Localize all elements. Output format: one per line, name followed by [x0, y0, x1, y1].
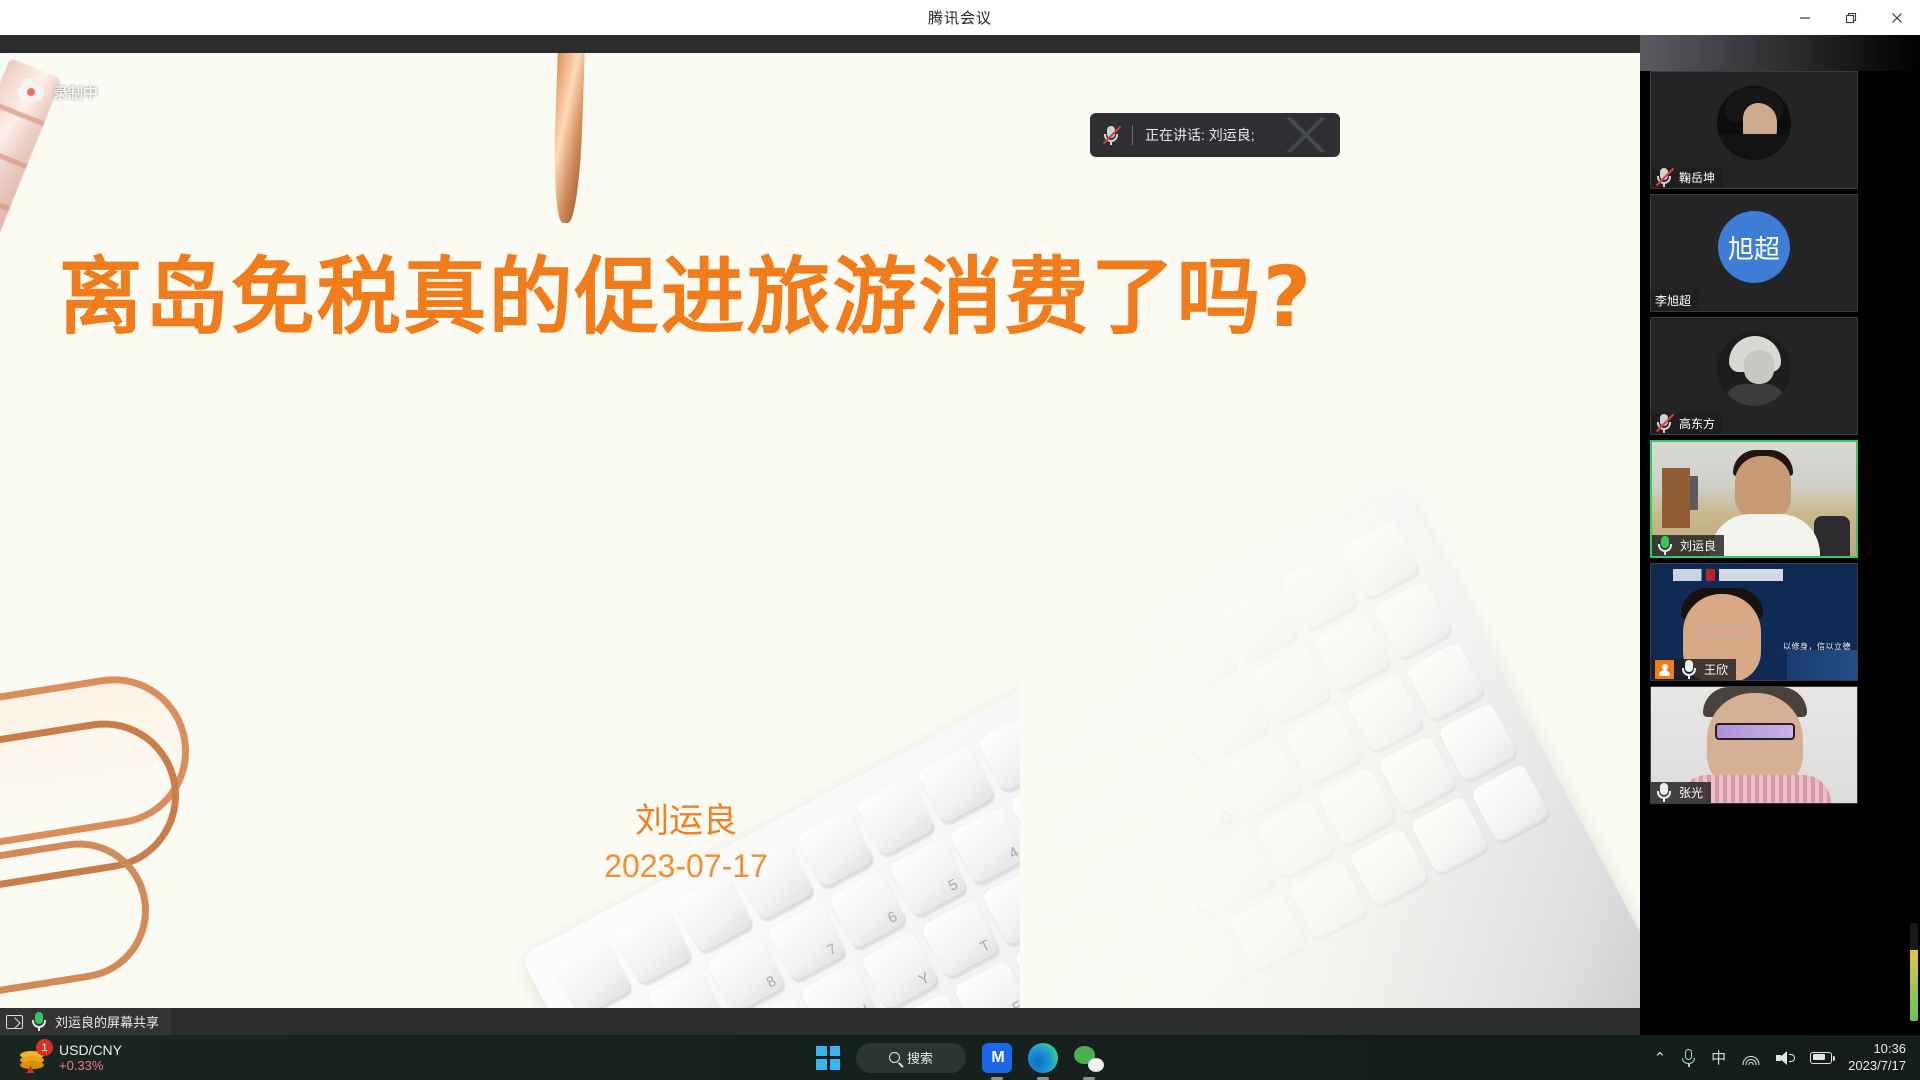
share-status-label-group: 刘运良的屏幕共享: [0, 1008, 171, 1035]
meeting-window: 0987654321POIUYTREWQLKJHGFDSAMNBVCXZ 离岛免…: [0, 35, 1920, 1035]
participant-tile-3[interactable]: 刘运良: [1650, 440, 1858, 558]
taskbar-tray: ⌃ 中 10:36 2023/7/17: [1654, 1035, 1906, 1080]
participant-tile-4[interactable]: 以修身，信以立德 王欣: [1650, 563, 1858, 681]
running-indicator: [1083, 1077, 1095, 1080]
participant-name: 李旭超: [1655, 292, 1691, 309]
widget-badge: 1: [36, 1039, 53, 1056]
wifi-icon[interactable]: [1742, 1051, 1760, 1065]
mic-on-icon: [30, 1011, 48, 1032]
taskbar-app-edge[interactable]: [1028, 1043, 1058, 1073]
clock-time: 10:36: [1873, 1041, 1906, 1057]
participant-namebar-2: 高东方: [1651, 413, 1723, 434]
windows-taskbar: 1 ▲ USD/CNY +0.33% 搜索 M ⌃: [0, 1035, 1920, 1080]
volume-icon[interactable]: [1776, 1051, 1794, 1065]
coins-icon: 1 ▲: [18, 1043, 50, 1073]
running-indicator: [1037, 1077, 1049, 1080]
speaking-banner: 正在讲话: 刘运良;: [1090, 113, 1340, 157]
window-controls: [1782, 0, 1920, 35]
participant-tile-5[interactable]: 张光: [1650, 686, 1858, 804]
participant-tile-1[interactable]: 旭超 李旭超: [1650, 194, 1858, 312]
taskbar-center-group: 搜索 M: [816, 1035, 1104, 1080]
slide-date: 2023-07-17: [0, 848, 1372, 885]
mic-muted-icon: [1102, 125, 1120, 146]
up-arrow-icon: ▲: [24, 1061, 37, 1076]
participant-tile-0[interactable]: 鞠岳坤: [1650, 71, 1858, 189]
search-label: 搜索: [907, 1048, 933, 1067]
tencent-meeting-logo: [1278, 118, 1334, 152]
cloud-record-icon: [18, 84, 44, 101]
participant-namebar-4: 王欣: [1651, 659, 1736, 680]
mic-on-icon: [1655, 782, 1673, 803]
shared-screen-area[interactable]: 0987654321POIUYTREWQLKJHGFDSAMNBVCXZ 离岛免…: [0, 35, 1640, 1035]
window-titlebar: 腾讯会议: [0, 0, 1920, 35]
participant-name: 鞠岳坤: [1679, 169, 1715, 186]
mic-on-icon: [1680, 659, 1698, 680]
restore-button[interactable]: [1828, 0, 1874, 35]
running-indicator: [991, 1077, 1003, 1080]
taskbar-app-wechat[interactable]: [1074, 1043, 1104, 1073]
chevron-up-icon[interactable]: ⌃: [1654, 1049, 1667, 1067]
screen-share-icon: [6, 1015, 23, 1029]
taskbar-app-tencent-meeting[interactable]: M: [982, 1043, 1012, 1073]
currency-change-label: +0.33%: [59, 1059, 122, 1074]
taskbar-finance-widget[interactable]: 1 ▲ USD/CNY +0.33%: [18, 1039, 122, 1077]
avatar: 旭超: [1718, 211, 1790, 283]
tencent-meeting-icon: M: [991, 1049, 1002, 1067]
recording-label: 录制中: [53, 82, 98, 103]
participant-namebar-1: 李旭超: [1651, 290, 1699, 311]
mic-muted-icon: [1655, 167, 1673, 188]
participant-tile-2[interactable]: 高东方: [1650, 317, 1858, 435]
keyboard-photo: 0987654321POIUYTREWQLKJHGFDSAMNBVCXZ: [520, 487, 1640, 1008]
slide-title: 离岛免税真的促进旅游消费了吗?: [0, 248, 1372, 347]
mic-muted-icon: [1655, 413, 1673, 434]
participant-namebar-5: 张光: [1651, 782, 1711, 803]
taskbar-search-box[interactable]: 搜索: [856, 1043, 966, 1073]
battery-icon[interactable]: [1810, 1052, 1832, 1064]
slide-author: 刘运良: [0, 793, 1372, 842]
clock-date: 2023/7/17: [1848, 1058, 1906, 1074]
currency-pair-label: USD/CNY: [59, 1042, 122, 1058]
presentation-slide: 0987654321POIUYTREWQLKJHGFDSAMNBVCXZ 离岛免…: [0, 53, 1640, 1008]
participant-name: 高东方: [1679, 415, 1715, 432]
participant-name: 张光: [1679, 784, 1703, 801]
search-icon: [889, 1052, 900, 1063]
taskbar-clock[interactable]: 10:36 2023/7/17: [1848, 1041, 1906, 1074]
participant-namebar-0: 鞠岳坤: [1651, 167, 1723, 188]
ime-indicator[interactable]: 中: [1711, 1047, 1726, 1068]
banner-divider: [1132, 125, 1133, 145]
app-title: 腾讯会议: [928, 7, 992, 28]
mic-on-icon: [1656, 535, 1674, 556]
microphone-icon[interactable]: [1682, 1049, 1695, 1067]
participant-sidebar[interactable]: 鞠岳坤 旭超 李旭超 高东方: [1640, 35, 1920, 1035]
minimize-button[interactable]: [1782, 0, 1828, 35]
share-status-label: 刘运良的屏幕共享: [55, 1012, 159, 1031]
participant-name: 刘运良: [1680, 537, 1716, 554]
share-status-strip: 刘运良的屏幕共享: [0, 1008, 1640, 1035]
speaking-label: 正在讲话: 刘运良;: [1145, 125, 1255, 145]
avatar: [1717, 332, 1791, 406]
windows-start-icon[interactable]: [816, 1046, 840, 1070]
participant-namebar-3: 刘运良: [1652, 535, 1724, 556]
participant-name: 王欣: [1704, 661, 1728, 678]
recording-indicator: 录制中: [18, 82, 98, 103]
host-icon: [1655, 660, 1674, 679]
avatar: [1717, 86, 1791, 160]
pen-photo-top-center: [552, 53, 587, 223]
close-button[interactable]: [1874, 0, 1920, 35]
volume-meter: [1910, 923, 1918, 1021]
sidebar-top-gradient: [1640, 35, 1920, 71]
